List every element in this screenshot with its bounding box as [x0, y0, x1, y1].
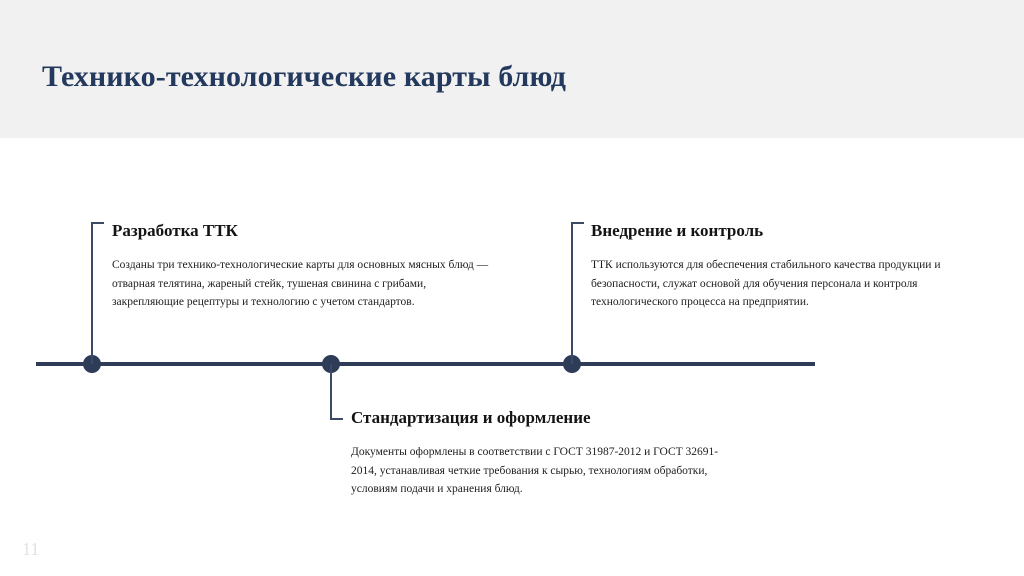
timeline-item-1: Разработка ТТК Созданы три технико-техно… — [112, 220, 492, 312]
timeline-connector-elbow-1 — [91, 222, 104, 224]
page-title: Технико-технологические карты блюд — [42, 58, 566, 96]
timeline-connector-stem-2 — [330, 364, 332, 420]
timeline-item-2: Стандартизация и оформление Документы оф… — [351, 407, 741, 499]
timeline-item-2-title: Стандартизация и оформление — [351, 407, 741, 429]
timeline-item-3-title: Внедрение и контроль — [591, 220, 1001, 242]
timeline-connector-stem-3 — [571, 222, 573, 364]
timeline-item-3: Внедрение и контроль ТТК используются дл… — [591, 220, 1001, 312]
timeline-connector-elbow-3 — [571, 222, 584, 224]
timeline-item-1-title: Разработка ТТК — [112, 220, 492, 242]
timeline-connector-stem-1 — [91, 222, 93, 364]
timeline-connector-elbow-2 — [330, 418, 343, 420]
timeline-item-2-body: Документы оформлены в соответствии с ГОС… — [351, 443, 741, 499]
timeline-axis-line — [36, 362, 815, 366]
timeline-item-3-body: ТТК используются для обеспечения стабиль… — [591, 256, 1001, 312]
slide-canvas: Технико-технологические карты блюд Разра… — [0, 0, 1024, 576]
page-number: 11 — [22, 538, 39, 560]
timeline-item-1-body: Созданы три технико-технологические карт… — [112, 256, 492, 312]
